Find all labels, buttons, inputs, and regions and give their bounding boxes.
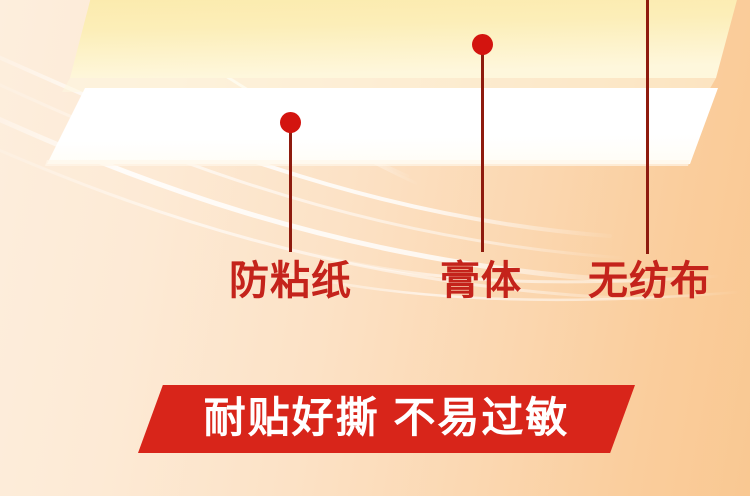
product-sheet-stack xyxy=(0,0,750,270)
feature-banner: 耐贴好撕 不易过敏 xyxy=(138,385,635,453)
paste-sheet-edge-glow xyxy=(45,160,690,166)
product-feature-poster: 防粘纸 膏体 无纺布 耐贴好撕 不易过敏 xyxy=(0,0,750,496)
decorative-arc-group xyxy=(0,0,740,300)
callout-dot-release-paper xyxy=(280,112,301,133)
callout-label-paste-body: 膏体 xyxy=(440,261,522,301)
feature-banner-text: 耐贴好撕 不易过敏 xyxy=(138,385,635,453)
callout-line-paste-body xyxy=(481,44,484,252)
release-paper-sheet-main xyxy=(70,0,745,78)
callout-line-release-paper xyxy=(289,122,292,252)
release-paper-sheet-fade xyxy=(62,78,716,92)
callout-label-release-paper: 防粘纸 xyxy=(229,261,352,301)
callout-label-non-woven-fabric: 无纺布 xyxy=(588,261,711,301)
callout-line-non-woven-fabric xyxy=(646,0,649,254)
callout-dot-paste-body xyxy=(472,34,493,55)
paste-sheet xyxy=(47,88,718,164)
